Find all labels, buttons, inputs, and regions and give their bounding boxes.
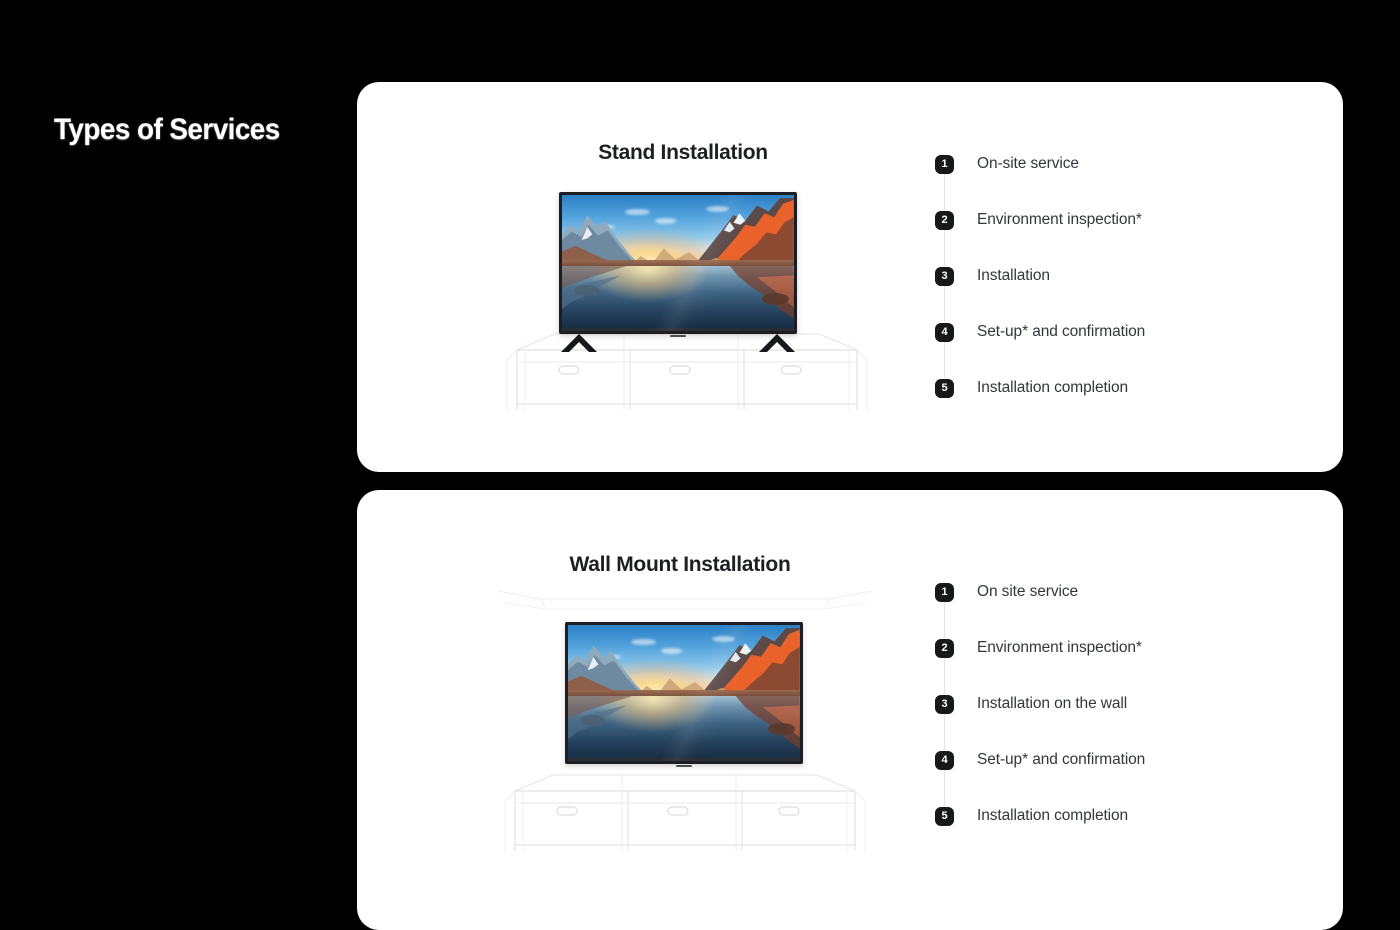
tv-display	[559, 192, 797, 334]
step-badge: 3	[935, 267, 954, 286]
console-wireframe-icon	[490, 767, 880, 855]
step-item[interactable]: 3 Installation	[935, 266, 1145, 286]
step-label: On-site service	[977, 155, 1079, 173]
step-label: Installation on the wall	[977, 695, 1127, 713]
step-item[interactable]: 5 Installation completion	[935, 378, 1145, 398]
step-badge: 5	[935, 807, 954, 826]
step-item[interactable]: 1 On site service	[935, 582, 1145, 602]
steps-list-wall-mount: 1 On site service 2 Environment inspecti…	[935, 582, 1145, 826]
step-badge: 1	[935, 583, 954, 602]
card-wall-mount-installation: Wall Mount Installation	[357, 490, 1343, 930]
step-badge: 2	[935, 211, 954, 230]
tv-screen-image	[568, 625, 800, 761]
step-label: Installation	[977, 267, 1050, 285]
step-label: Environment inspection*	[977, 211, 1142, 229]
step-label: Environment inspection*	[977, 639, 1142, 657]
step-badge: 5	[935, 379, 954, 398]
step-item[interactable]: 2 Environment inspection*	[935, 210, 1145, 230]
card-stand-installation: Stand Installation	[357, 82, 1343, 472]
tv-display	[565, 622, 803, 764]
tv-feet-icon	[559, 330, 797, 354]
step-badge: 3	[935, 695, 954, 714]
tv-screen-image	[562, 195, 794, 331]
step-badge: 1	[935, 155, 954, 174]
page-title: Types of Services	[54, 113, 280, 147]
step-label: Installation completion	[977, 379, 1128, 397]
illustration-tv-on-console	[497, 182, 877, 412]
step-item[interactable]: 4 Set-up* and confirmation	[935, 750, 1145, 770]
step-label: On site service	[977, 583, 1078, 601]
step-badge: 4	[935, 323, 954, 342]
step-item[interactable]: 2 Environment inspection*	[935, 638, 1145, 658]
ceiling-line-icon	[490, 585, 880, 615]
tv-bezel	[559, 192, 797, 334]
step-item[interactable]: 4 Set-up* and confirmation	[935, 322, 1145, 342]
tv-bezel	[565, 622, 803, 764]
step-item[interactable]: 5 Installation completion	[935, 806, 1145, 826]
step-label: Set-up* and confirmation	[977, 323, 1145, 341]
card-title-stand: Stand Installation	[357, 141, 1009, 165]
step-label: Installation completion	[977, 807, 1128, 825]
step-item[interactable]: 1 On-site service	[935, 154, 1145, 174]
steps-list-stand: 1 On-site service 2 Environment inspecti…	[935, 154, 1145, 398]
step-badge: 4	[935, 751, 954, 770]
step-item[interactable]: 3 Installation on the wall	[935, 694, 1145, 714]
step-badge: 2	[935, 639, 954, 658]
step-label: Set-up* and confirmation	[977, 751, 1145, 769]
card-title-wall-mount: Wall Mount Installation	[357, 553, 1003, 577]
illustration-tv-wall-mounted	[490, 585, 880, 855]
